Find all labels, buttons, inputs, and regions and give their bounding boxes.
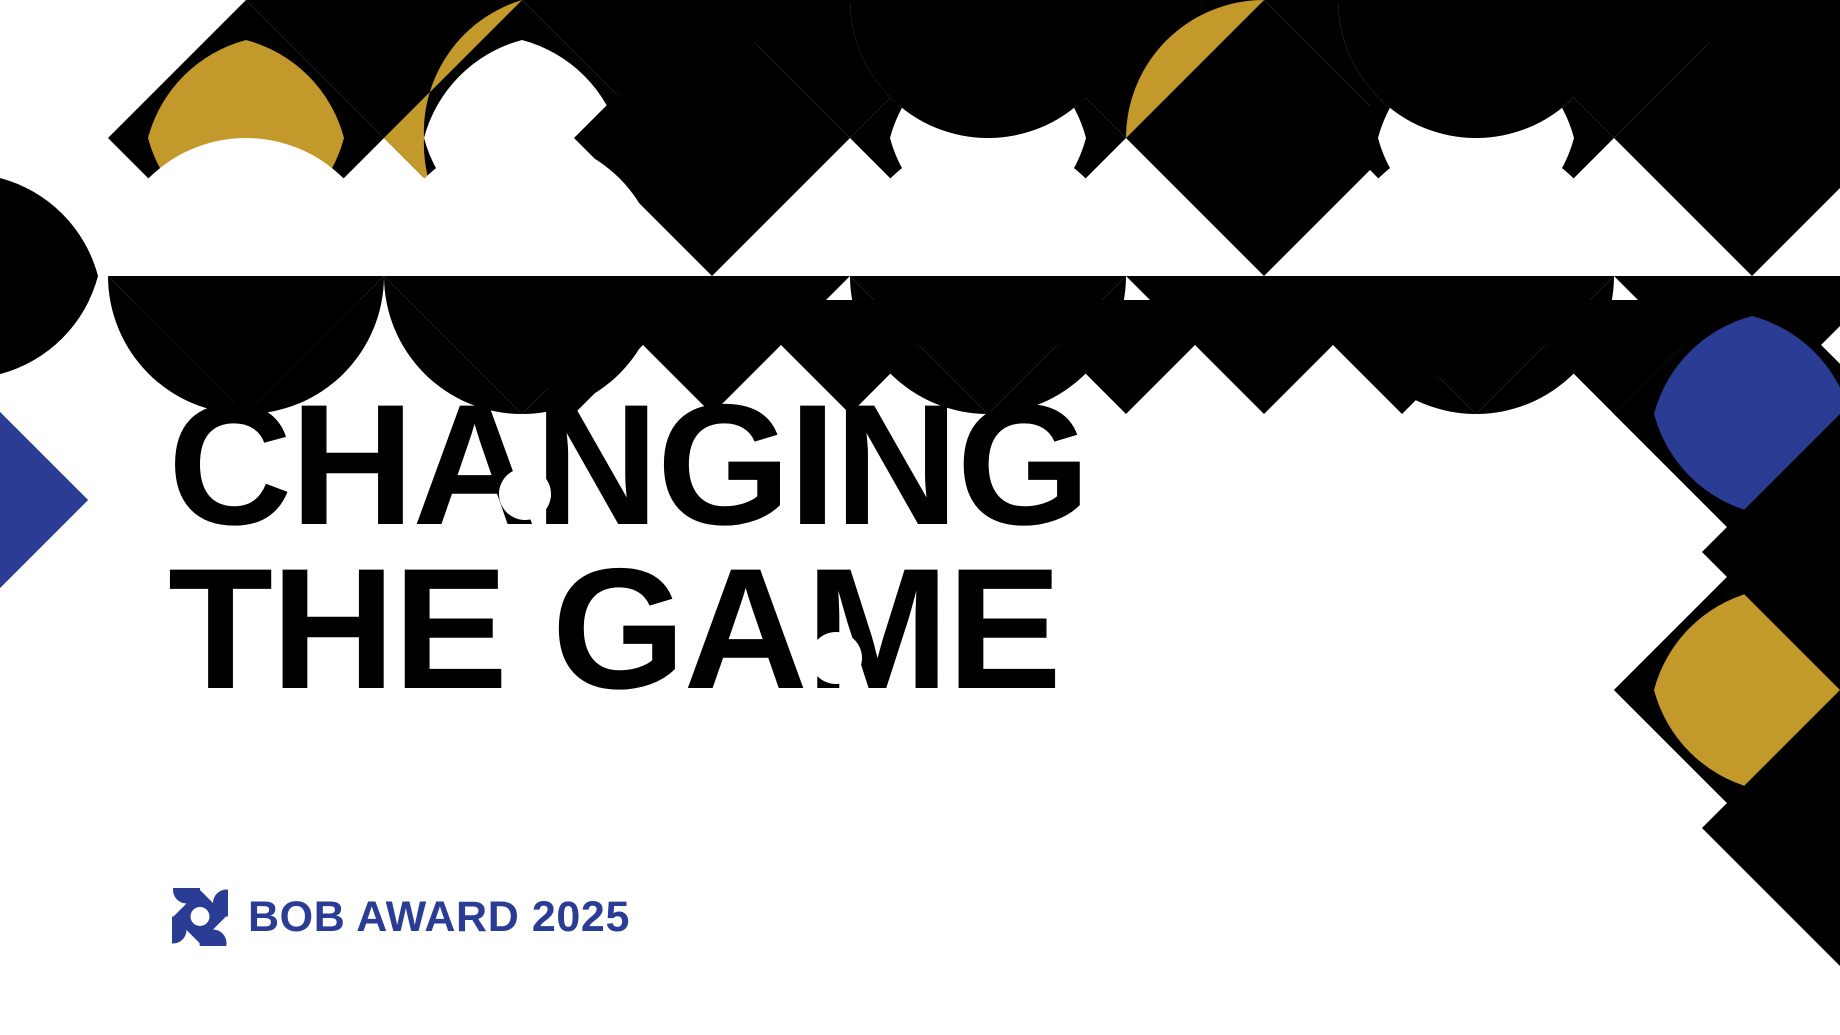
headline-line-2: THE GAME <box>168 533 1060 725</box>
star-counter-a1 <box>499 468 551 520</box>
star-counter-a2 <box>810 632 862 684</box>
headline-svg: CHANGING THE GAME <box>168 392 1458 732</box>
quatrefoil-star-logo-icon <box>172 888 228 946</box>
poster-canvas: CHANGING THE GAME BOB AWARD 2025 <box>0 0 1840 1035</box>
headline-block: CHANGING THE GAME <box>168 392 1368 732</box>
award-label: BOB AWARD 2025 <box>248 896 630 939</box>
award-lockup: BOB AWARD 2025 <box>172 888 630 946</box>
